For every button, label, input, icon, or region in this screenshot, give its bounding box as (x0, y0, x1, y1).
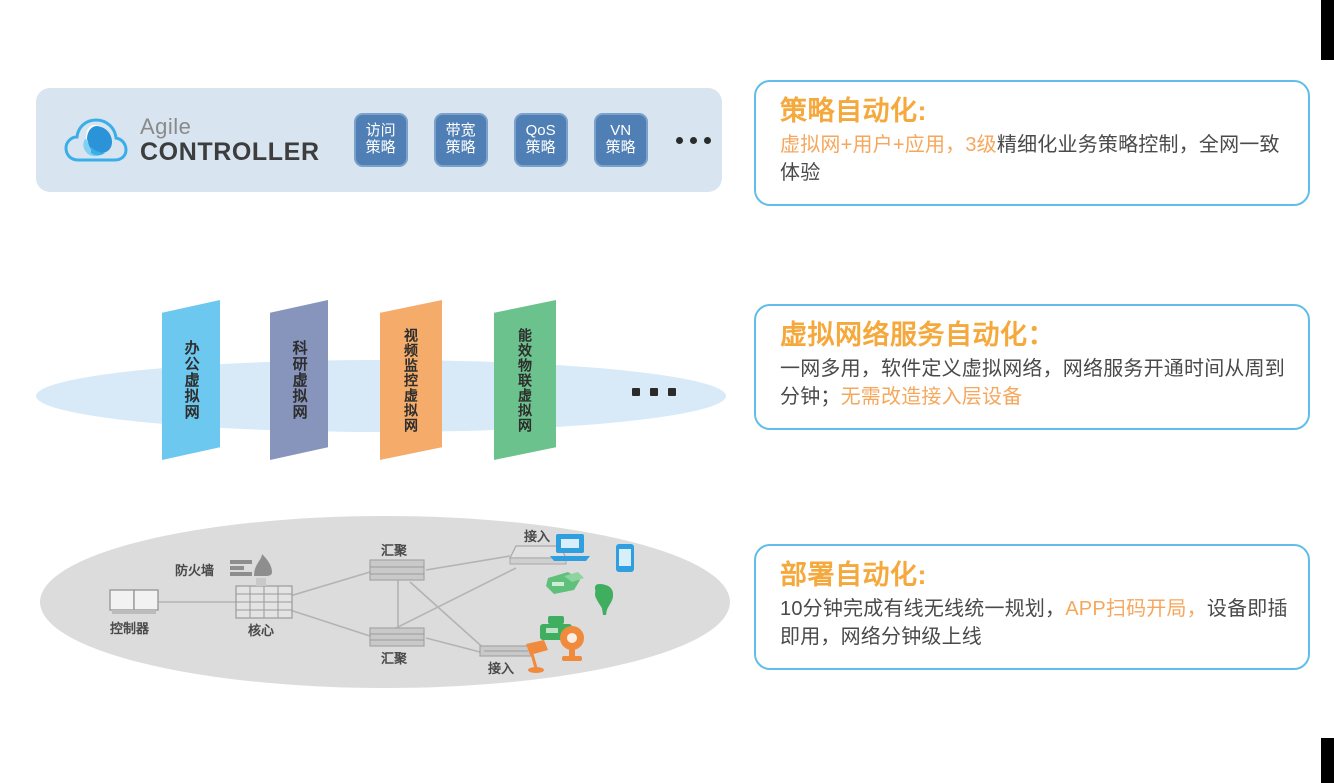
right-edge-marker-bottom (1321, 738, 1334, 783)
feature-card-virtual-network-automation: 虚拟网络服务自动化： 一网多用，软件定义虚拟网络，网络服务开通时间从周到分钟；无… (754, 304, 1310, 430)
camera-icon (560, 626, 584, 661)
slide-canvas: Agile CONTROLLER 访问 策略 带宽 策略 QoS 策略 VN 策… (0, 0, 1334, 783)
topology-label-firewall: 防火墙 (175, 560, 214, 579)
brand-agile: Agile (140, 116, 320, 138)
policy-button-access[interactable]: 访问 策略 (354, 113, 408, 167)
feature-card-policy-automation-title: 策略自动化: (780, 96, 1288, 127)
policy-button-group: 访问 策略 带宽 策略 QoS 策略 VN 策略 (354, 113, 711, 167)
feature-card-deployment-automation: 部署自动化: 10分钟完成有线无线统一规划，APP扫码开局，设备即插即用，网络分… (754, 544, 1310, 670)
vn-plane-video: 视频监控虚拟网 (380, 300, 442, 460)
policy-button-access-line1: 访问 (366, 123, 396, 140)
aggregation-switch-top-icon (370, 560, 424, 580)
policy-button-vn-line2: 策略 (606, 140, 636, 157)
deploy-body-part-1: 10分钟完成有线无线统一规划， (780, 598, 1065, 620)
scanner-icon (546, 572, 584, 594)
core-switch-icon (236, 578, 292, 618)
virtual-network-diagram: 办公虚拟网 科研虚拟网 视频监控虚拟网 能效物联虚拟网 (36, 300, 726, 495)
policy-ellipsis (676, 137, 711, 144)
vn-plane-video-label: 视频监控虚拟网 (380, 300, 442, 460)
deploy-body-part-2: APP扫码开局， (1065, 598, 1207, 620)
topology-label-aggregation-bottom: 汇聚 (381, 648, 407, 667)
policy-button-vn-line1: VN (610, 123, 631, 140)
policy-button-access-line2: 策略 (366, 140, 396, 157)
feature-card-deployment-automation-body: 10分钟完成有线无线统一规划，APP扫码开局，设备即插即用，网络分钟级上线 (780, 595, 1288, 652)
agile-controller-bar: Agile CONTROLLER 访问 策略 带宽 策略 QoS 策略 VN 策… (36, 88, 722, 192)
right-edge-marker-top (1321, 0, 1334, 60)
topology-label-core: 核心 (248, 620, 274, 639)
tablet-icon (616, 544, 634, 572)
controller-icon (110, 590, 158, 614)
sensor-pin-icon (595, 584, 613, 615)
agile-controller-wordmark: Agile CONTROLLER (140, 116, 320, 165)
policy-button-bandwidth-line1: 带宽 (446, 123, 476, 140)
vn-body-part-2: 无需改造接入层设备 (841, 386, 1023, 408)
vn-plane-research: 科研虚拟网 (270, 300, 328, 460)
topology-label-access-top: 接入 (524, 526, 550, 545)
policy-body-part-1: 虚拟网+用户+应用，3级 (780, 134, 997, 156)
network-topology-diagram: 控制器 防火墙 核心 汇聚 汇聚 接入 接入 (40, 516, 730, 692)
brand-controller: CONTROLLER (140, 140, 320, 165)
policy-button-bandwidth-line2: 策略 (446, 140, 476, 157)
topology-label-aggregation-top: 汇聚 (381, 540, 407, 559)
feature-card-virtual-network-automation-title: 虚拟网络服务自动化： (780, 320, 1288, 351)
feature-card-virtual-network-automation-body: 一网多用，软件定义虚拟网络，网络服务开通时间从周到分钟；无需改造接入层设备 (780, 355, 1288, 412)
vn-plane-office-label: 办公虚拟网 (162, 300, 220, 460)
vn-plane-research-label: 科研虚拟网 (270, 300, 328, 460)
access-switch-bottom-icon (480, 646, 532, 656)
vn-plane-iot: 能效物联虚拟网 (494, 300, 556, 460)
policy-button-qos-line2: 策略 (526, 140, 556, 157)
policy-button-qos[interactable]: QoS 策略 (514, 113, 568, 167)
policy-button-vn[interactable]: VN 策略 (594, 113, 648, 167)
vn-ellipsis (632, 388, 676, 396)
feature-card-deployment-automation-title: 部署自动化: (780, 560, 1288, 591)
policy-button-qos-line1: QoS (526, 123, 556, 140)
agile-controller-logo: Agile CONTROLLER (64, 114, 320, 166)
feature-card-policy-automation: 策略自动化: 虚拟网+用户+应用，3级精细化业务策略控制，全网一致体验 (754, 80, 1310, 206)
aggregation-switch-bottom-icon (370, 628, 424, 646)
laptop-icon (550, 534, 590, 561)
vn-plane-iot-label: 能效物联虚拟网 (494, 300, 556, 460)
cloud-icon (64, 114, 128, 166)
topology-label-controller: 控制器 (110, 618, 149, 637)
policy-button-bandwidth[interactable]: 带宽 策略 (434, 113, 488, 167)
feature-card-policy-automation-body: 虚拟网+用户+应用，3级精细化业务策略控制，全网一致体验 (780, 131, 1288, 188)
firewall-icon (230, 554, 272, 576)
topology-label-access-bottom: 接入 (488, 658, 514, 677)
vn-plane-office: 办公虚拟网 (162, 300, 220, 460)
